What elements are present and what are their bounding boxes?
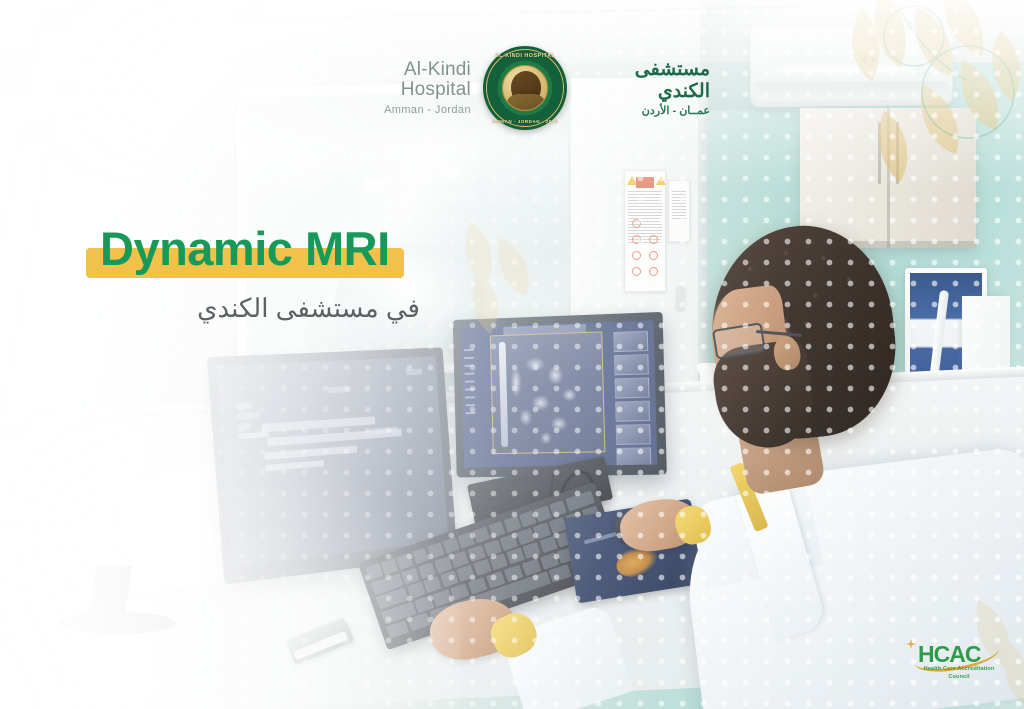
cabinet-handle xyxy=(896,122,899,184)
air-conditioner-unit xyxy=(750,27,952,107)
seal-top-text: AL-KINDI HOSPITAL xyxy=(483,53,567,59)
prohibition-icon xyxy=(649,251,658,260)
mri-viewer-sidebar xyxy=(464,349,475,420)
hospital-location-en: Amman - Jordan xyxy=(330,104,471,116)
title-block: Dynamic MRI في مستشفى الكندي xyxy=(86,224,516,324)
left-monitor-screen xyxy=(217,356,449,567)
hospital-location-ar: عمــان - الأردن xyxy=(579,105,710,118)
mri-spine-structure xyxy=(499,342,509,447)
mri-monitor-screen xyxy=(461,320,658,467)
page-title: Dynamic MRI xyxy=(100,224,390,273)
hcac-accreditation-logo: HCAC Health Care Accreditation Council xyxy=(912,635,1004,683)
warning-triangle-icon xyxy=(656,176,666,185)
wall-cabinet xyxy=(800,108,976,248)
seal-portrait xyxy=(502,65,548,111)
door-instruction-sign xyxy=(668,180,690,242)
hospital-brand-header: Al-Kindi Hospital Amman - Jordan AL-KIND… xyxy=(330,52,710,124)
prohibition-icon xyxy=(632,219,641,228)
al-kindi-seal-icon: AL-KINDI HOSPITAL AMMAN - JORDAN - 2015 xyxy=(483,46,567,130)
title-highlight-wrap: Dynamic MRI xyxy=(86,224,404,273)
portrait-body xyxy=(506,94,546,110)
door-handle xyxy=(676,286,685,310)
ac-air-vent xyxy=(755,82,948,101)
ac-indicator-led xyxy=(872,58,876,62)
left-monitor-base xyxy=(58,612,176,634)
seal-bottom-text: AMMAN - JORDAN - 2015 xyxy=(483,119,567,124)
cabinet-door-seam xyxy=(887,108,890,248)
prohibition-icon xyxy=(632,235,641,244)
prohibition-icon xyxy=(632,267,641,276)
ceiling-vent xyxy=(205,0,265,18)
ac-indicator-led xyxy=(862,58,866,62)
mri-safety-poster xyxy=(624,170,666,292)
mri-coronal-scan-image xyxy=(490,331,606,454)
prohibition-icon xyxy=(632,251,641,260)
ac-highlight xyxy=(769,66,918,73)
prohibition-icon xyxy=(649,267,658,276)
sign-header-band xyxy=(636,177,654,188)
prohibition-icon xyxy=(649,235,658,244)
ceiling-light-reflection xyxy=(365,180,387,191)
mri-monitor xyxy=(453,312,667,478)
mri-slice-thumbnails xyxy=(613,331,651,468)
brand-english: Al-Kindi Hospital Amman - Jordan xyxy=(330,60,471,117)
sign-text-lines xyxy=(672,191,686,221)
brand-arabic: مستشفى الكندي عمــان - الأردن xyxy=(579,59,710,117)
mri-promo-poster: Al-Kindi Hospital Amman - Jordan AL-KIND… xyxy=(0,0,1024,709)
cabinet-handle xyxy=(878,122,881,184)
hospital-name-en: Al-Kindi Hospital xyxy=(330,60,471,102)
page-subtitle: في مستشفى الكندي xyxy=(86,293,516,324)
hcac-subtext: Health Care Accreditation Council xyxy=(916,665,1002,681)
hospital-name-ar: مستشفى الكندي xyxy=(579,59,710,103)
